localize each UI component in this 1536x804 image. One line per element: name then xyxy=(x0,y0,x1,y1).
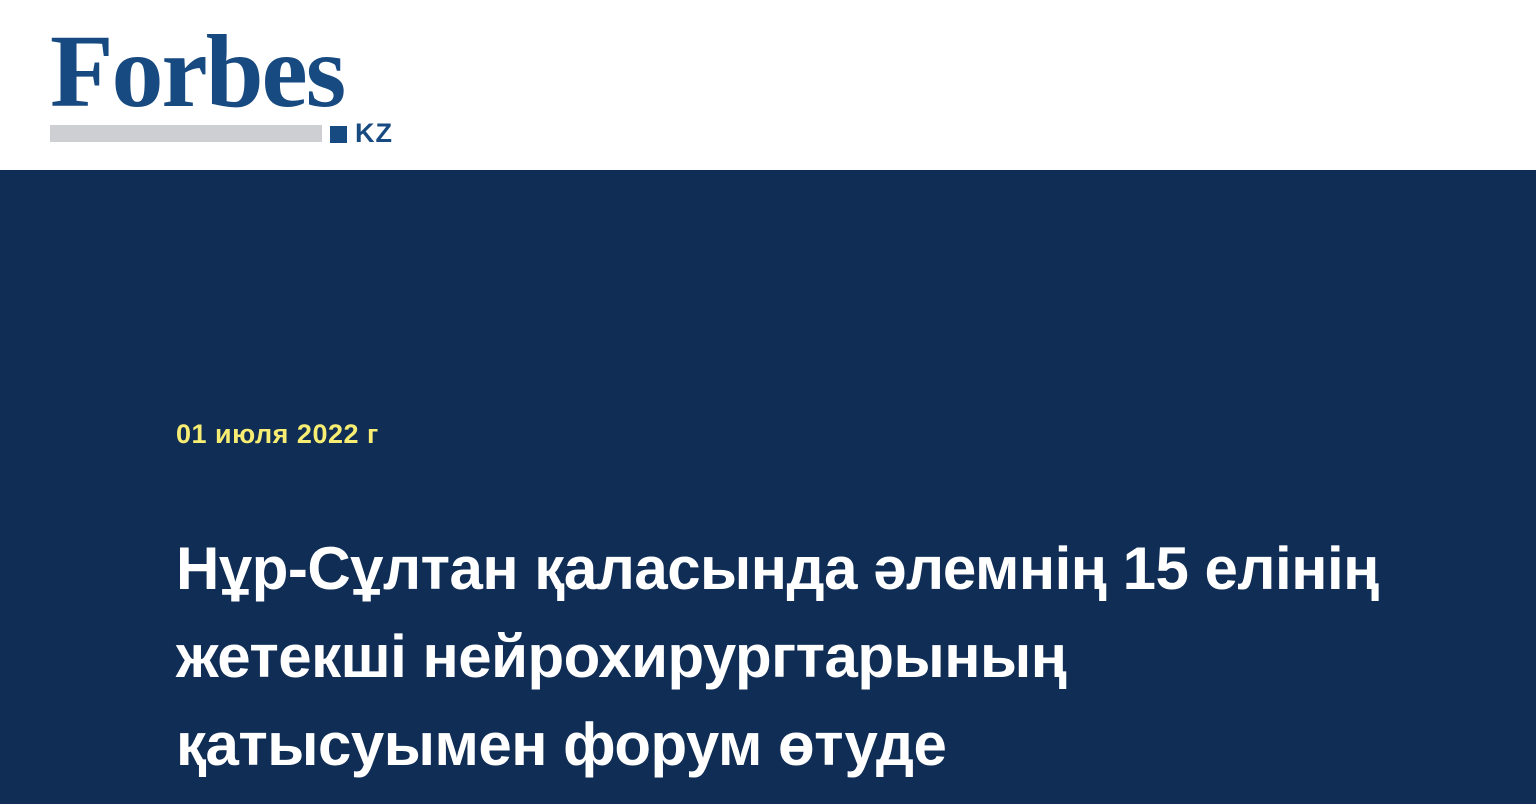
article-hero: 01 июля 2022 г Нұр-Сұлтан қаласында әлем… xyxy=(0,170,1536,804)
article-page: Forbes KZ 01 июля 2022 г Нұр-Сұлтан қала… xyxy=(0,0,1536,804)
logo-rule xyxy=(50,125,322,142)
logo-square-icon xyxy=(330,126,347,143)
forbes-wordmark: Forbes xyxy=(50,20,344,124)
article-headline: Нұр-Сұлтан қаласында әлемнің 15 елінің ж… xyxy=(176,525,1396,789)
logo-country-suffix: KZ xyxy=(355,120,393,147)
site-header: Forbes KZ xyxy=(0,0,1536,170)
article-date: 01 июля 2022 г xyxy=(176,417,379,451)
forbes-kz-logo[interactable]: Forbes KZ xyxy=(50,20,430,145)
